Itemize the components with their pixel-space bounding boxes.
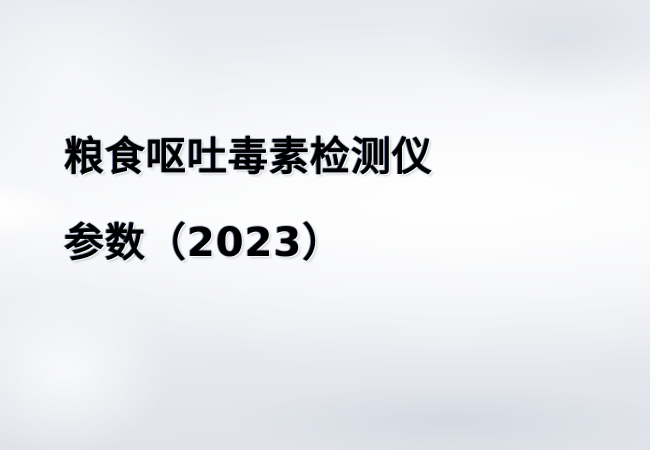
title-line-1: 粮食呕吐毒素检测仪 bbox=[64, 114, 624, 200]
title-line-2: 参数（2023） bbox=[64, 200, 624, 286]
page-title: 粮食呕吐毒素检测仪 参数（2023） bbox=[64, 114, 624, 286]
title-banner: 粮食呕吐毒素检测仪 参数（2023） bbox=[0, 0, 650, 450]
